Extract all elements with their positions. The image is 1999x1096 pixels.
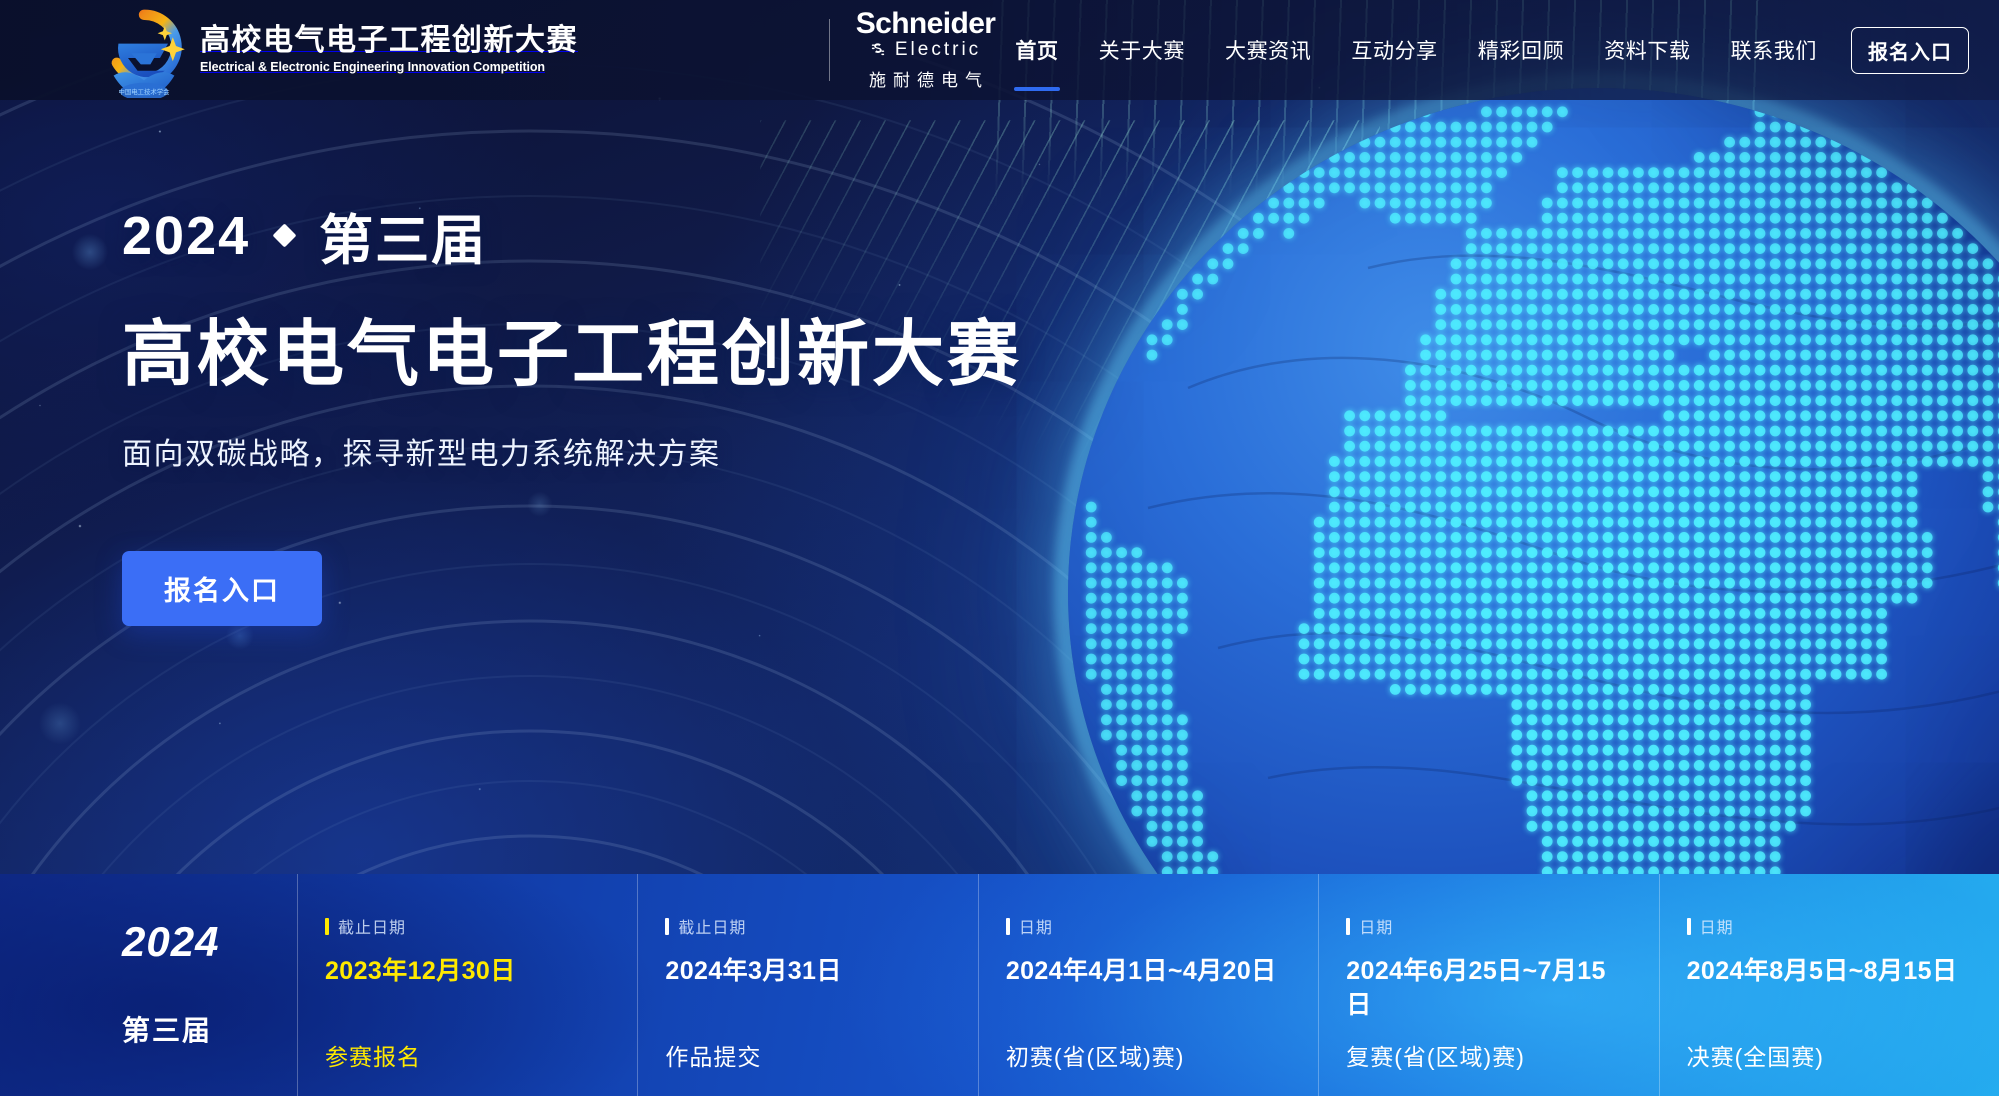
timeline-stage: 初赛(省(区域)赛) — [1006, 1038, 1185, 1072]
timeline-accent-bar-icon — [665, 918, 669, 935]
timeline-label-wrap: 日期 — [1006, 914, 1318, 938]
timeline-label: 截止日期 — [338, 914, 406, 938]
header-register-button[interactable]: 报名入口 — [1851, 27, 1969, 74]
timeline-date: 2024年3月31日 — [665, 954, 977, 988]
hero-kicker: 2024 第三届 — [122, 196, 1022, 275]
timeline-item-final[interactable]: 日期 2024年8月5日~8月15日 决赛(全国赛) — [1659, 874, 1999, 1096]
nav-item-home[interactable]: 首页 — [995, 25, 1078, 75]
timeline-label: 日期 — [1359, 914, 1393, 938]
timeline-stage: 作品提交 — [665, 1038, 761, 1072]
timeline-item-preliminary[interactable]: 日期 2024年4月1日~4月20日 初赛(省(区域)赛) — [978, 874, 1318, 1096]
schneider-s-mark-icon — [870, 40, 890, 60]
partner-product-line: Electric — [895, 39, 981, 61]
timeline-edition: 第三届 — [122, 1009, 297, 1049]
timeline-label: 日期 — [1700, 914, 1734, 938]
timeline-stage: 参赛报名 — [325, 1038, 421, 1072]
timeline-date: 2024年6月25日~7月15日 — [1346, 954, 1658, 1022]
timeline-date: 2023年12月30日 — [325, 954, 637, 988]
page-title: 高校电气电子工程创新大赛 — [122, 317, 1022, 395]
nav-item-contact[interactable]: 联系我们 — [1711, 25, 1837, 75]
timeline-label: 截止日期 — [678, 914, 746, 938]
hero-edition: 第三届 — [319, 196, 487, 275]
timeline-date: 2024年8月5日~8月15日 — [1687, 954, 1999, 988]
schedule-timeline-bar: 2024 第三届 截止日期 2023年12月30日 参赛报名 截止日期 2024… — [0, 874, 1999, 1096]
brand-text: 高校电气电子工程创新大赛 Electrical & Electronic Eng… — [200, 24, 805, 76]
nav-item-downloads[interactable]: 资料下载 — [1584, 25, 1710, 75]
timeline-item-semifinal[interactable]: 日期 2024年6月25日~7月15日 复赛(省(区域)赛) — [1318, 874, 1658, 1096]
hero-content: 2024 第三届 高校电气电子工程创新大赛 面向双碳战略，探寻新型电力系统解决方… — [122, 196, 1022, 626]
hero-year: 2024 — [122, 205, 250, 267]
primary-navigation: 首页 关于大赛 大赛资讯 互动分享 精彩回顾 资料下载 联系我们 报名入口 — [995, 25, 1999, 75]
timeline-accent-bar-icon — [1687, 918, 1691, 935]
timeline-label: 日期 — [1019, 914, 1053, 938]
timeline-item-submission[interactable]: 截止日期 2024年3月31日 作品提交 — [637, 874, 977, 1096]
timeline-year: 2024 — [122, 921, 297, 963]
partner-name: Schneider — [856, 9, 996, 38]
emblem-seal-text: 中国电工技术学会 — [118, 87, 170, 96]
hero-subtitle: 面向双碳战略，探寻新型电力系统解决方案 — [122, 429, 1022, 473]
timeline-stage: 决赛(全国赛) — [1687, 1038, 1824, 1072]
partner-subline: Electric — [856, 39, 996, 61]
nav-item-about[interactable]: 关于大赛 — [1079, 25, 1205, 75]
diamond-bullet-icon — [273, 223, 297, 247]
brand-logo-link[interactable]: 中国电工技术学会 高校电气电子工程创新大赛 Electrical & Elect… — [96, 2, 805, 98]
timeline-accent-bar-icon — [325, 918, 329, 935]
brand-name-en: Electrical & Electronic Engineering Inno… — [200, 60, 545, 74]
timeline-label-wrap: 日期 — [1687, 914, 1999, 938]
page-root: 中国电工技术学会 高校电气电子工程创新大赛 Electrical & Elect… — [0, 0, 1999, 1096]
brand-name-cn: 高校电气电子工程创新大赛 — [200, 24, 578, 57]
timeline-date: 2024年4月1日~4月20日 — [1006, 954, 1318, 988]
timeline-accent-bar-icon — [1346, 918, 1350, 935]
timeline-lead: 2024 第三届 — [0, 874, 297, 1096]
partner-logo-schneider-electric: Schneider Electric 施耐德电气 — [856, 9, 996, 91]
nav-item-interaction[interactable]: 互动分享 — [1331, 25, 1457, 75]
partner-name-cn: 施耐德电气 — [856, 66, 996, 91]
competition-emblem-icon: 中国电工技术学会 — [96, 2, 192, 98]
site-header: 中国电工技术学会 高校电气电子工程创新大赛 Electrical & Elect… — [0, 0, 1999, 100]
timeline-label-wrap: 截止日期 — [665, 914, 977, 938]
nav-item-highlights[interactable]: 精彩回顾 — [1458, 25, 1584, 75]
timeline-stage: 复赛(省(区域)赛) — [1346, 1038, 1525, 1072]
timeline-accent-bar-icon — [1006, 918, 1010, 935]
timeline-label-wrap: 日期 — [1346, 914, 1658, 938]
timeline-item-registration[interactable]: 截止日期 2023年12月30日 参赛报名 — [297, 874, 637, 1096]
hero-register-button[interactable]: 报名入口 — [122, 551, 322, 626]
nav-item-news[interactable]: 大赛资讯 — [1205, 25, 1331, 75]
timeline-label-wrap: 截止日期 — [325, 914, 637, 938]
header-divider — [829, 19, 830, 81]
